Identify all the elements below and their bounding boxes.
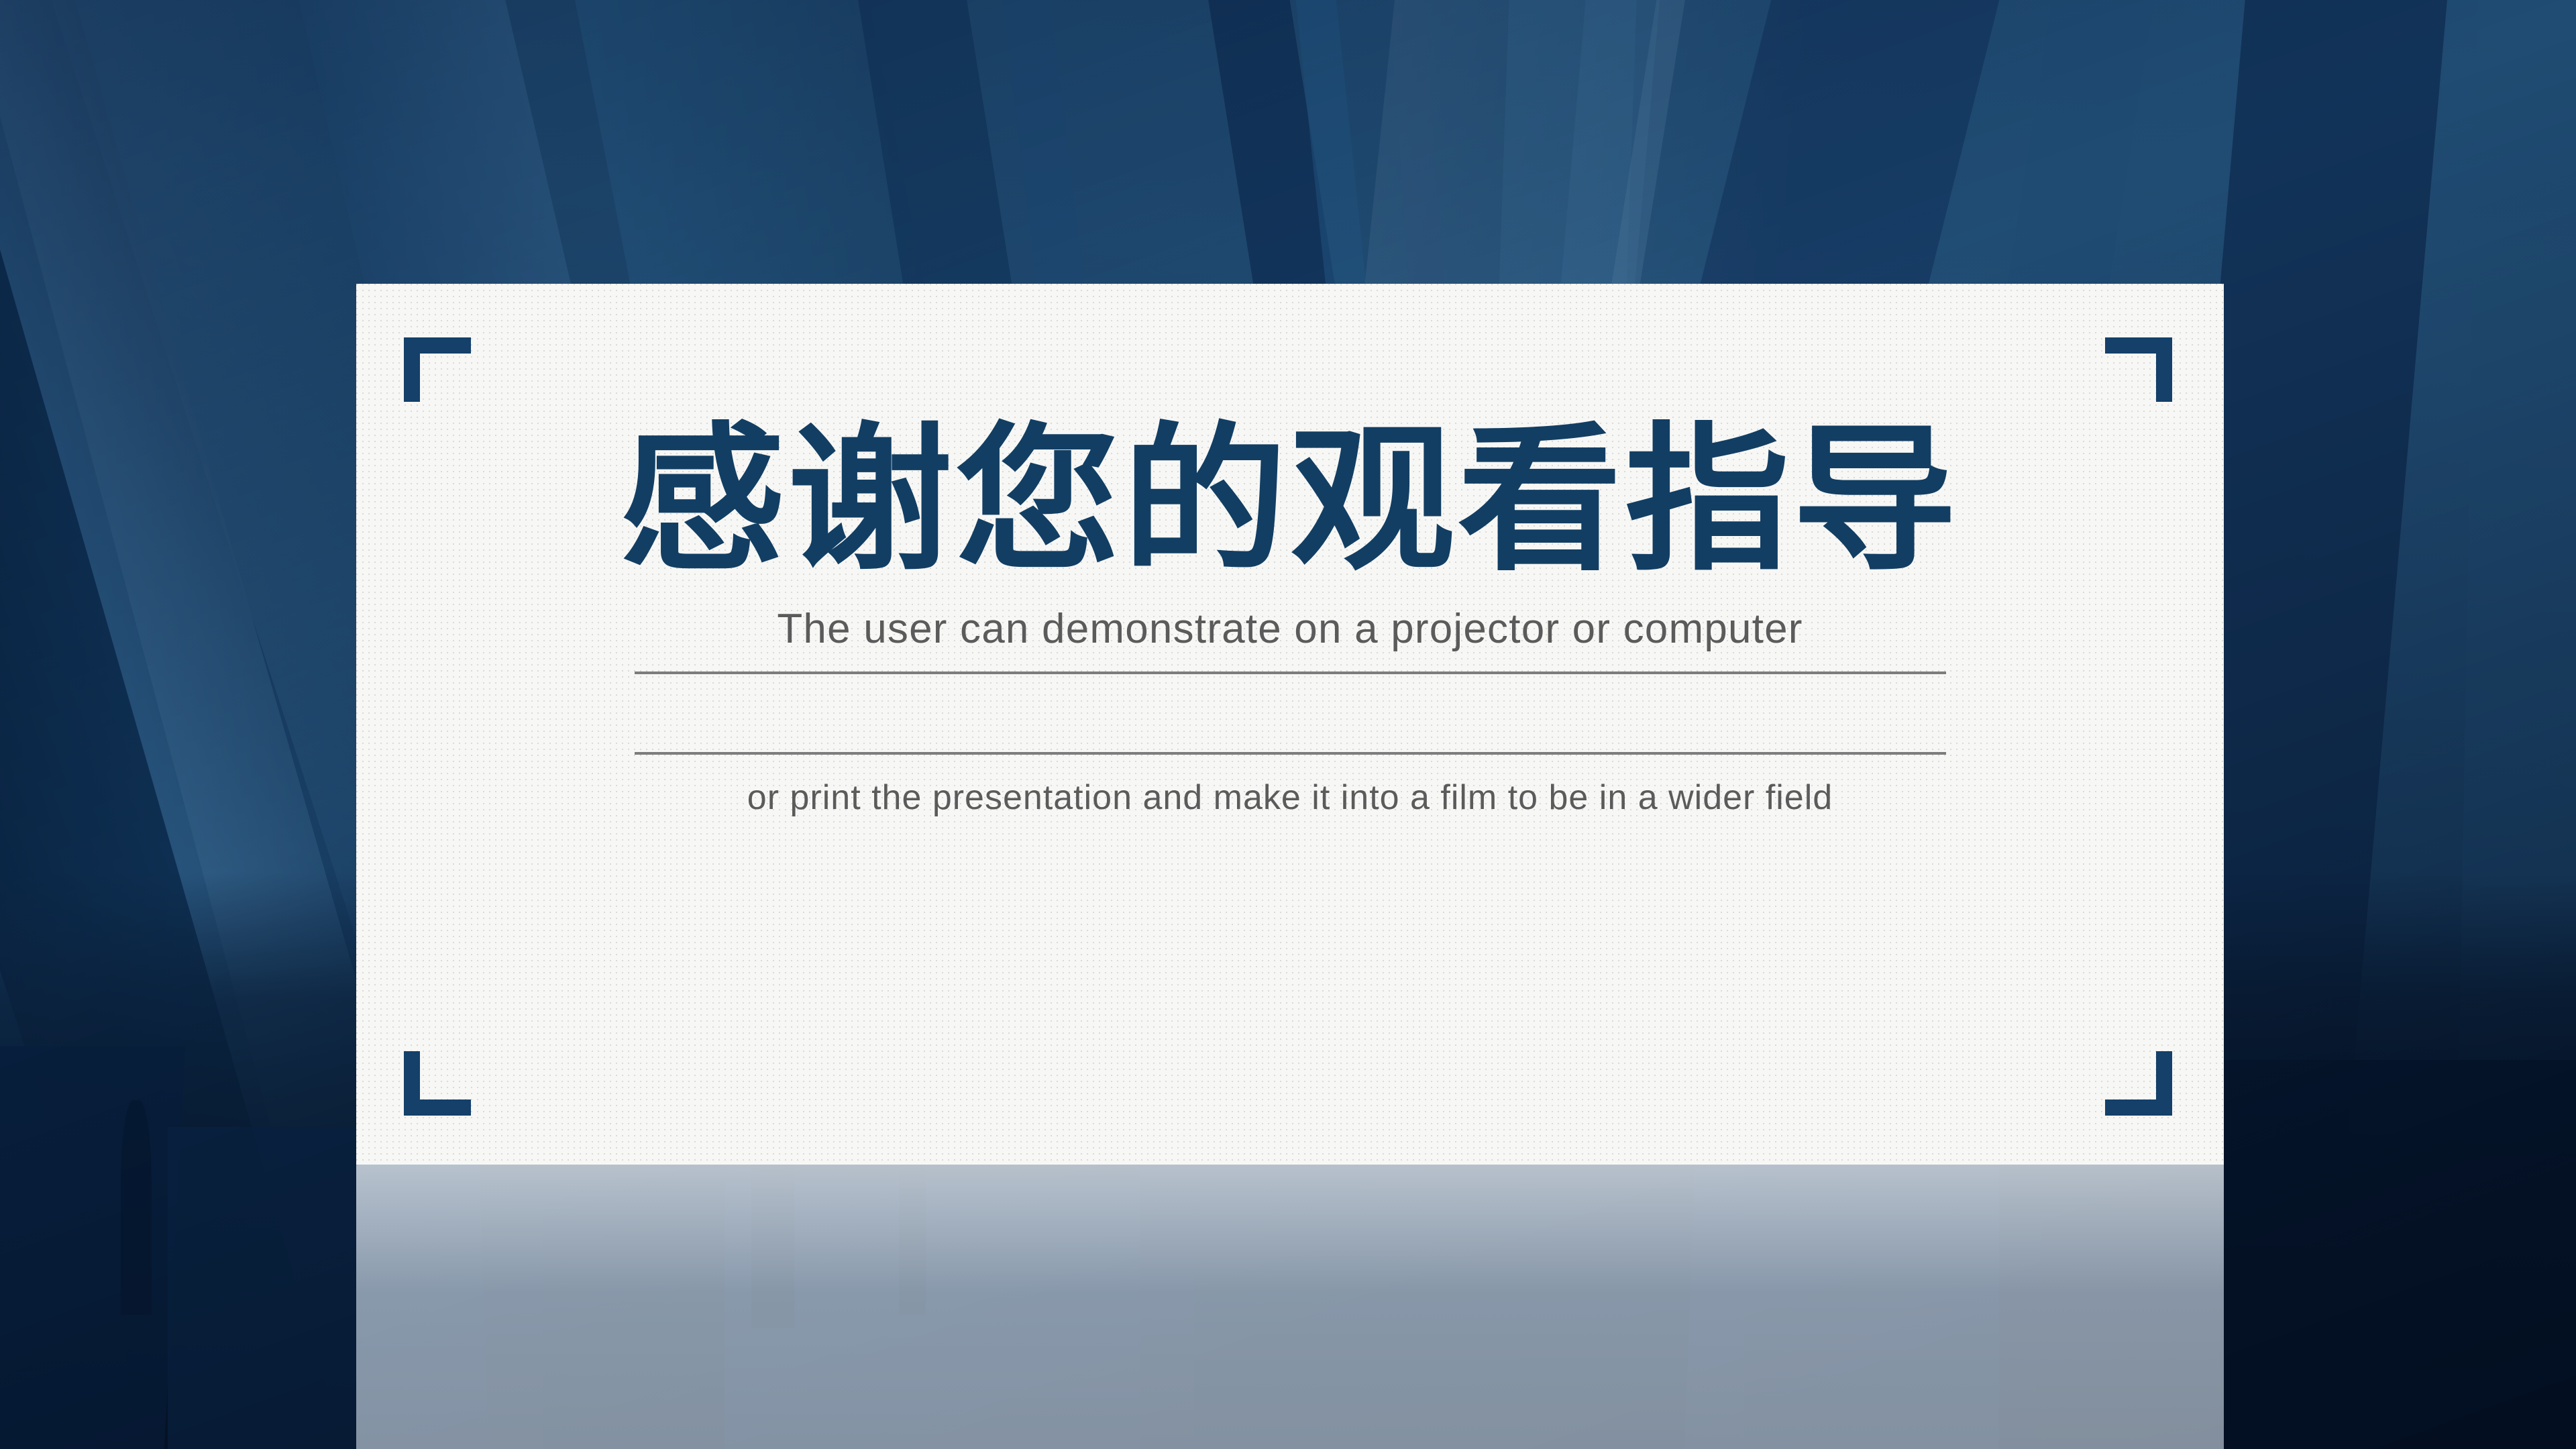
presentation-slide: 感谢您的观看指导 The user can demonstrate on a p…	[0, 0, 2576, 1449]
slide-subtitle-line-2: or print the presentation and make it in…	[747, 777, 1833, 818]
bracket-arm-vertical	[404, 1051, 420, 1116]
slide-title: 感谢您的观看指导	[621, 421, 1960, 580]
translucent-overlay-panel	[356, 1165, 2224, 1449]
building-block	[0, 1046, 185, 1449]
content-card: 感谢您的观看指导 The user can demonstrate on a p…	[356, 284, 2224, 1165]
slide-text-content: 感谢您的观看指导 The user can demonstrate on a p…	[356, 284, 2224, 818]
truss-beam	[2457, 0, 2576, 1224]
corner-bracket-bottom-right-icon	[2105, 1051, 2172, 1116]
divider-rule-top	[635, 672, 1946, 674]
tree-silhouette	[121, 1100, 152, 1315]
divider-rule-bottom	[635, 752, 1946, 755]
corner-bracket-bottom-left-icon	[404, 1051, 471, 1116]
slide-subtitle-line-1: The user can demonstrate on a projector …	[777, 605, 1803, 653]
bracket-arm-vertical	[2156, 1051, 2172, 1116]
